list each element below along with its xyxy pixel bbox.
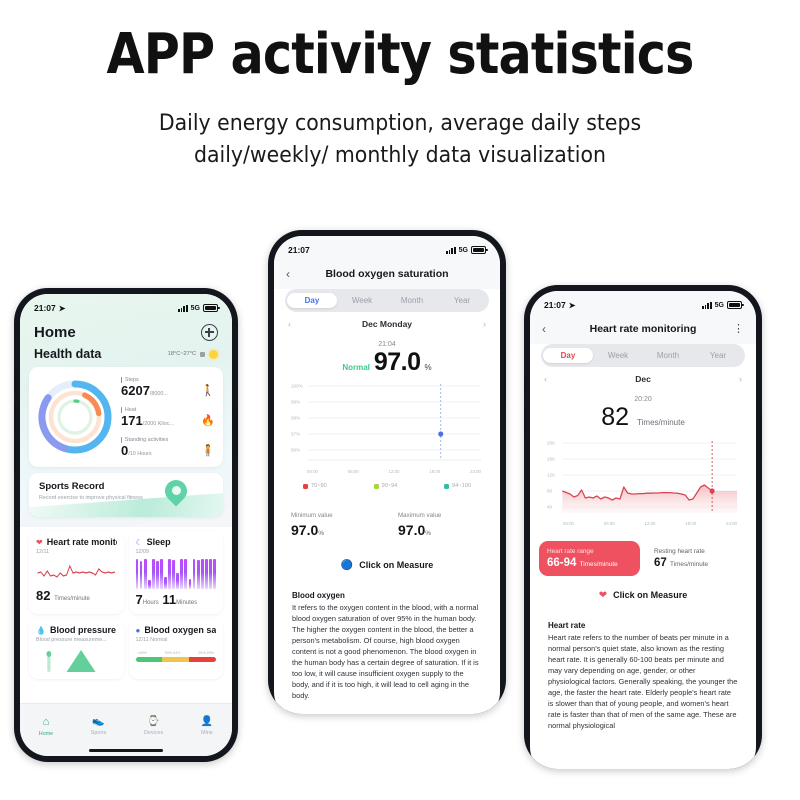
resting-heart-rate-card: Resting heart rate 67 Times/minute (646, 541, 747, 576)
network-label: 5G (459, 247, 468, 254)
y-tick: 40 (547, 505, 552, 510)
tab-label: Sports (91, 730, 107, 736)
reading-time: 20:20 (547, 396, 739, 403)
stat-value: 66-94 (547, 557, 576, 569)
tab-label: Mine (201, 730, 213, 736)
reading-unit: Times/minute (637, 418, 685, 427)
location-arrow-icon: ➤ (59, 304, 66, 313)
legend-label: 90~94 (382, 483, 398, 489)
heart-rate-sparkline (36, 559, 117, 585)
status-bar: 21:07 ➤ 5G (20, 294, 232, 318)
status-badge: Normal (342, 363, 370, 372)
network-label: 5G (715, 302, 724, 309)
battery-icon (471, 246, 486, 255)
chevron-left-icon[interactable]: ‹ (544, 374, 547, 384)
info-title: Blood oxygen (292, 591, 482, 600)
x-tick: 00:00 (563, 521, 574, 526)
activity-rings (33, 375, 117, 459)
card-unit: Hours (143, 600, 159, 606)
flame-icon: 🔥 (201, 416, 215, 427)
kebab-menu-icon[interactable]: ⋮ (730, 325, 744, 333)
page-title: APP activity statistics (48, 22, 752, 87)
y-tick: 200 (547, 441, 555, 446)
person-icon: 👤 (201, 716, 213, 727)
signal-icon (178, 305, 187, 312)
home-icon: ⌂ (43, 716, 50, 728)
maximum-value-card: Maximum value 97.0% (390, 504, 491, 546)
status-time: 21:07 (34, 303, 56, 313)
period-segmented-control[interactable]: Day Week Month Year (285, 289, 489, 312)
left-screen: 21:07 ➤ 5G Home Health data (20, 294, 232, 756)
x-tick: 06:00 (604, 521, 615, 526)
period-segmented-control[interactable]: Day Week Month Year (541, 344, 745, 367)
stat-label: Maximum value (398, 511, 483, 520)
date-label: Dec Monday (362, 319, 412, 329)
heart-rate-chart-card: 20:20 82 Times/minute (539, 390, 747, 535)
signal-icon (702, 302, 711, 309)
shoe-icon: 👟 (92, 716, 104, 727)
status-bar: 21:07 ➤ 5G (530, 291, 756, 315)
right-screen: 21:07 ➤ 5G ‹ Heart rate monitoring ⋮ Day… (530, 291, 756, 769)
tab-day[interactable]: Day (543, 348, 593, 363)
heart-icon: ❤ (36, 538, 43, 547)
nav-bar: ‹ Blood oxygen saturation (274, 260, 500, 289)
metric-value: 6207 (121, 383, 150, 398)
tab-week[interactable]: Week (593, 348, 643, 363)
card-title: Sleep (147, 537, 171, 547)
moon-icon: ☾ (136, 538, 143, 547)
spo2-chart-card: 21:04 Normal 97.0 % (283, 335, 491, 498)
info-card: Heart rate Heart rate refers to the numb… (539, 614, 747, 740)
nav-title: Blood oxygen saturation (300, 268, 474, 280)
card-unit: Times/minute (54, 596, 90, 602)
tab-month[interactable]: Month (643, 348, 693, 363)
heart-icon: ❤ (599, 590, 607, 601)
card-date: 12/11 (36, 549, 117, 555)
sports-record-title: Sports Record (29, 473, 223, 492)
chevron-right-icon[interactable]: › (739, 374, 742, 384)
x-tick: 00:00 (307, 469, 318, 474)
tab-year[interactable]: Year (693, 348, 743, 363)
chevron-left-icon[interactable]: ‹ (286, 267, 300, 281)
info-body: Heart rate refers to the number of beats… (548, 632, 738, 731)
metric-standing: Standing activities 0/10 Hours 🧍 (121, 437, 215, 457)
sun-icon (209, 350, 218, 359)
stat-label: Resting heart rate (654, 548, 739, 555)
poster-root: APP activity statistics Daily energy con… (0, 0, 800, 800)
measure-button-label: Click on Measure (613, 590, 687, 600)
reading-value: 97.0 (374, 348, 421, 377)
battery-icon (203, 304, 218, 313)
card-title: Blood oxygen saturation (144, 625, 216, 635)
chevron-right-icon[interactable]: › (483, 319, 486, 329)
card-title: Heart rate monitoring (47, 537, 117, 547)
card-heart-rate[interactable]: ❤ Heart rate monitoring 12/11 82 Times/m… (29, 531, 124, 614)
watch-icon: ⌚ (147, 716, 159, 727)
card-sleep[interactable]: ☾ Sleep 12/09 7Hours 11Minutes (129, 531, 224, 614)
info-card: Blood oxygen It refers to the oxygen con… (283, 584, 491, 710)
metric-name: Standing activities (125, 437, 168, 443)
phone-left-home: 21:07 ➤ 5G Home Health data (14, 288, 238, 762)
tab-devices[interactable]: ⌚ Devices (144, 716, 163, 736)
tab-sports[interactable]: 👟 Sports (91, 716, 107, 736)
map-pin-icon (165, 480, 187, 508)
chevron-left-icon[interactable]: ‹ (542, 322, 556, 336)
reading-time: 21:04 (291, 341, 483, 348)
blood-pressure-art (36, 646, 117, 672)
location-arrow-icon: ➤ (569, 301, 576, 310)
reading-value: 82 (601, 403, 629, 432)
blood-drop-icon: 🔵 (341, 560, 353, 571)
minimum-value-card: Minimum value 97.0% (283, 504, 384, 546)
card-unit2: Minutes (176, 600, 197, 606)
x-tick: 24:00 (470, 469, 481, 474)
metric-value: 171 (121, 413, 143, 428)
nav-bar: ‹ Heart rate monitoring ⋮ (530, 315, 756, 344)
measure-button[interactable]: ❤ Click on Measure (539, 582, 747, 608)
x-tick: 18:00 (685, 521, 696, 526)
info-body: It refers to the oxygen content in the b… (292, 602, 482, 701)
gauge-tick: <90% (138, 651, 147, 655)
legend-item-low: 70~90 (303, 483, 327, 489)
plus-circle-icon[interactable] (201, 324, 218, 341)
legend-label: 70~90 (311, 483, 327, 489)
x-tick: 12:00 (645, 521, 656, 526)
tab-home[interactable]: ⌂ Home (39, 716, 53, 737)
tab-mine[interactable]: 👤 Mine (201, 716, 213, 736)
gauge-tick: 90%-94% (165, 651, 181, 655)
blood-oxygen-gauge: <90% 90%-94% 95%-99% (136, 651, 217, 662)
weather-small-icon (200, 352, 205, 357)
status-time: 21:07 (288, 245, 310, 255)
stat-label: Heart rate range (547, 548, 632, 555)
tab-label: Devices (144, 730, 163, 736)
measure-button-label: Click on Measure (359, 560, 433, 570)
card-date: 12/09 (136, 549, 217, 555)
x-tick: 18:00 (429, 469, 440, 474)
stat-unit: % (425, 530, 431, 537)
walking-icon: 🚶 (201, 386, 215, 397)
weather-info: 18°C~27°C (168, 350, 218, 359)
status-time: 21:07 (544, 300, 566, 310)
chevron-left-icon[interactable]: ‹ (288, 319, 291, 329)
x-tick: 12:00 (389, 469, 400, 474)
phone-right-heart-rate: 21:07 ➤ 5G ‹ Heart rate monitoring ⋮ Day… (524, 285, 762, 769)
battery-icon (727, 301, 742, 310)
gauge-tick: 95%-99% (198, 651, 214, 655)
stat-unit: % (318, 530, 324, 537)
tab-year[interactable]: Year (437, 293, 487, 308)
standing-icon: 🧍 (201, 446, 215, 457)
date-navigator: ‹ Dec Monday › (274, 312, 500, 331)
network-label: 5G (191, 305, 200, 312)
y-tick: 80 (547, 489, 552, 494)
sports-record-card[interactable]: Sports Record Record exercise to improve… (29, 473, 223, 517)
x-tick: 06:00 (348, 469, 359, 474)
card-blood-pressure[interactable]: 💧 Blood pressure monitoring Blood pressu… (29, 619, 124, 679)
card-title: Blood pressure monitoring (50, 625, 117, 635)
metric-steps: Steps 6207/8000... 🚶 (121, 377, 215, 397)
home-indicator (89, 749, 163, 752)
heart-rate-chart: 200 160 120 80 40 00:00 06:00 12:00 18:0… (547, 435, 739, 527)
circle-icon: ● (136, 626, 141, 635)
card-value2: 11 (162, 592, 176, 607)
legend-label: 94~100 (452, 483, 471, 489)
heart-rate-stat-cards: Heart rate range 66-94 Times/minute Rest… (539, 541, 747, 576)
droplet-icon: 💧 (36, 626, 46, 635)
card-date: Blood pressure measureme... (36, 637, 117, 643)
temperature-label: 18°C~27°C (168, 351, 196, 357)
tab-label: Home (39, 731, 53, 737)
chart-legend: 70~90 90~94 94~100 (291, 476, 483, 490)
y-tick: 97% (291, 432, 300, 437)
stat-value: 67 (654, 557, 667, 569)
legend-item-mid: 90~94 (374, 483, 398, 489)
measure-button[interactable]: 🔵 Click on Measure (283, 552, 491, 578)
stat-label: Minimum value (291, 511, 376, 520)
nav-title: Heart rate monitoring (556, 323, 730, 335)
metric-goal: /8000... (150, 391, 168, 397)
stat-unit: Times/minute (670, 561, 708, 568)
minmax-cards: Minimum value 97.0% Maximum value 97.0% (283, 504, 491, 546)
metric-goal: /2000 Kiloc... (143, 421, 174, 427)
status-bar: 21:07 5G (274, 236, 500, 260)
date-label: Dec (635, 374, 651, 384)
spo2-chart: 100% 99% 98% 97% 96% 00:00 06:00 12:00 1… (291, 380, 483, 476)
card-blood-oxygen[interactable]: ● Blood oxygen saturation 12/11 Normal <… (129, 619, 224, 679)
stat-value: 97.0 (291, 522, 318, 538)
phone-center-blood-oxygen: 21:07 5G ‹ Blood oxygen saturation Day W… (268, 230, 506, 714)
reading-unit: % (425, 363, 432, 372)
metric-heat: Heat 171/2000 Kiloc... 🔥 (121, 407, 215, 427)
y-tick: 96% (291, 448, 300, 453)
metric-goal: /10 Hours (128, 451, 151, 457)
center-screen: 21:07 5G ‹ Blood oxygen saturation Day W… (274, 236, 500, 714)
card-value: 7 (136, 592, 143, 607)
y-tick: 99% (291, 400, 300, 405)
stat-value: 97.0 (398, 522, 425, 538)
info-title: Heart rate (548, 621, 738, 630)
legend-item-high: 94~100 (444, 483, 471, 489)
x-tick: 24:00 (726, 521, 737, 526)
y-tick: 98% (291, 416, 300, 421)
heart-rate-range-card: Heart rate range 66-94 Times/minute (539, 541, 640, 576)
card-date: 12/11 Normal (136, 637, 217, 643)
y-tick: 100% (291, 384, 303, 389)
home-title: Home (34, 324, 76, 341)
signal-icon (446, 247, 455, 254)
tab-day[interactable]: Day (287, 293, 337, 308)
tab-month[interactable]: Month (387, 293, 437, 308)
health-data-label: Health data (34, 347, 101, 361)
card-value: 82 (36, 588, 50, 603)
stat-unit: Times/minute (580, 561, 618, 568)
date-navigator: ‹ Dec › (530, 367, 756, 386)
tab-week[interactable]: Week (337, 293, 387, 308)
y-tick: 120 (547, 473, 555, 478)
page-subtitle: Daily energy consumption, average daily … (102, 108, 697, 172)
health-rings-card[interactable]: Steps 6207/8000... 🚶 Heat 171/2000 Kiloc… (29, 367, 223, 467)
y-tick: 160 (547, 457, 555, 462)
sleep-bar-chart (136, 559, 217, 589)
